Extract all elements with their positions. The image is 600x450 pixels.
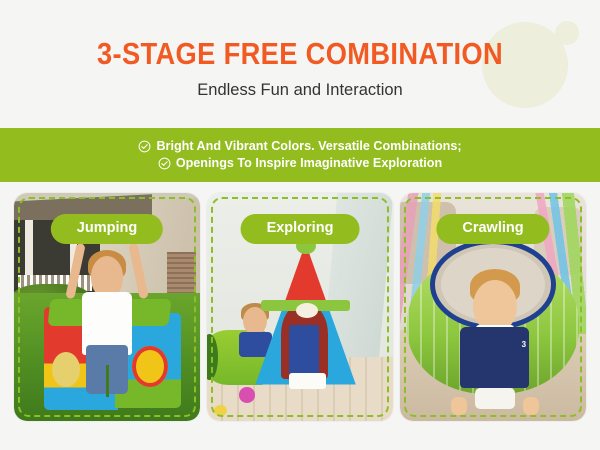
feature-banner-text-1: Bright And Vibrant Colors. Versatile Com… xyxy=(156,140,461,153)
feature-card-crawling[interactable]: 3 Crawling xyxy=(400,193,586,421)
feature-banner-line-2: Openings To Inspire Imaginative Explorat… xyxy=(158,157,442,170)
feature-card-jumping[interactable]: Jumping xyxy=(14,193,200,421)
promo-banner-page: 3-STAGE FREE COMBINATION Endless Fun and… xyxy=(0,0,600,450)
card-badge-jumping[interactable]: Jumping xyxy=(51,214,163,244)
page-subtitle: Endless Fun and Interaction xyxy=(0,82,600,99)
header: 3-STAGE FREE COMBINATION Endless Fun and… xyxy=(0,0,600,99)
feature-card-exploring[interactable]: Exploring xyxy=(207,193,393,421)
feature-banner: Bright And Vibrant Colors. Versatile Com… xyxy=(0,128,600,182)
page-title: 3-STAGE FREE COMBINATION xyxy=(36,38,564,69)
check-circle-icon xyxy=(158,157,171,170)
card-badge-exploring[interactable]: Exploring xyxy=(241,214,360,244)
feature-card-list: Jumping xyxy=(0,193,600,425)
feature-banner-line-1: Bright And Vibrant Colors. Versatile Com… xyxy=(138,140,461,153)
check-circle-icon xyxy=(138,140,151,153)
card-badge-crawling[interactable]: Crawling xyxy=(436,214,549,244)
feature-banner-text-2: Openings To Inspire Imaginative Explorat… xyxy=(176,157,442,170)
